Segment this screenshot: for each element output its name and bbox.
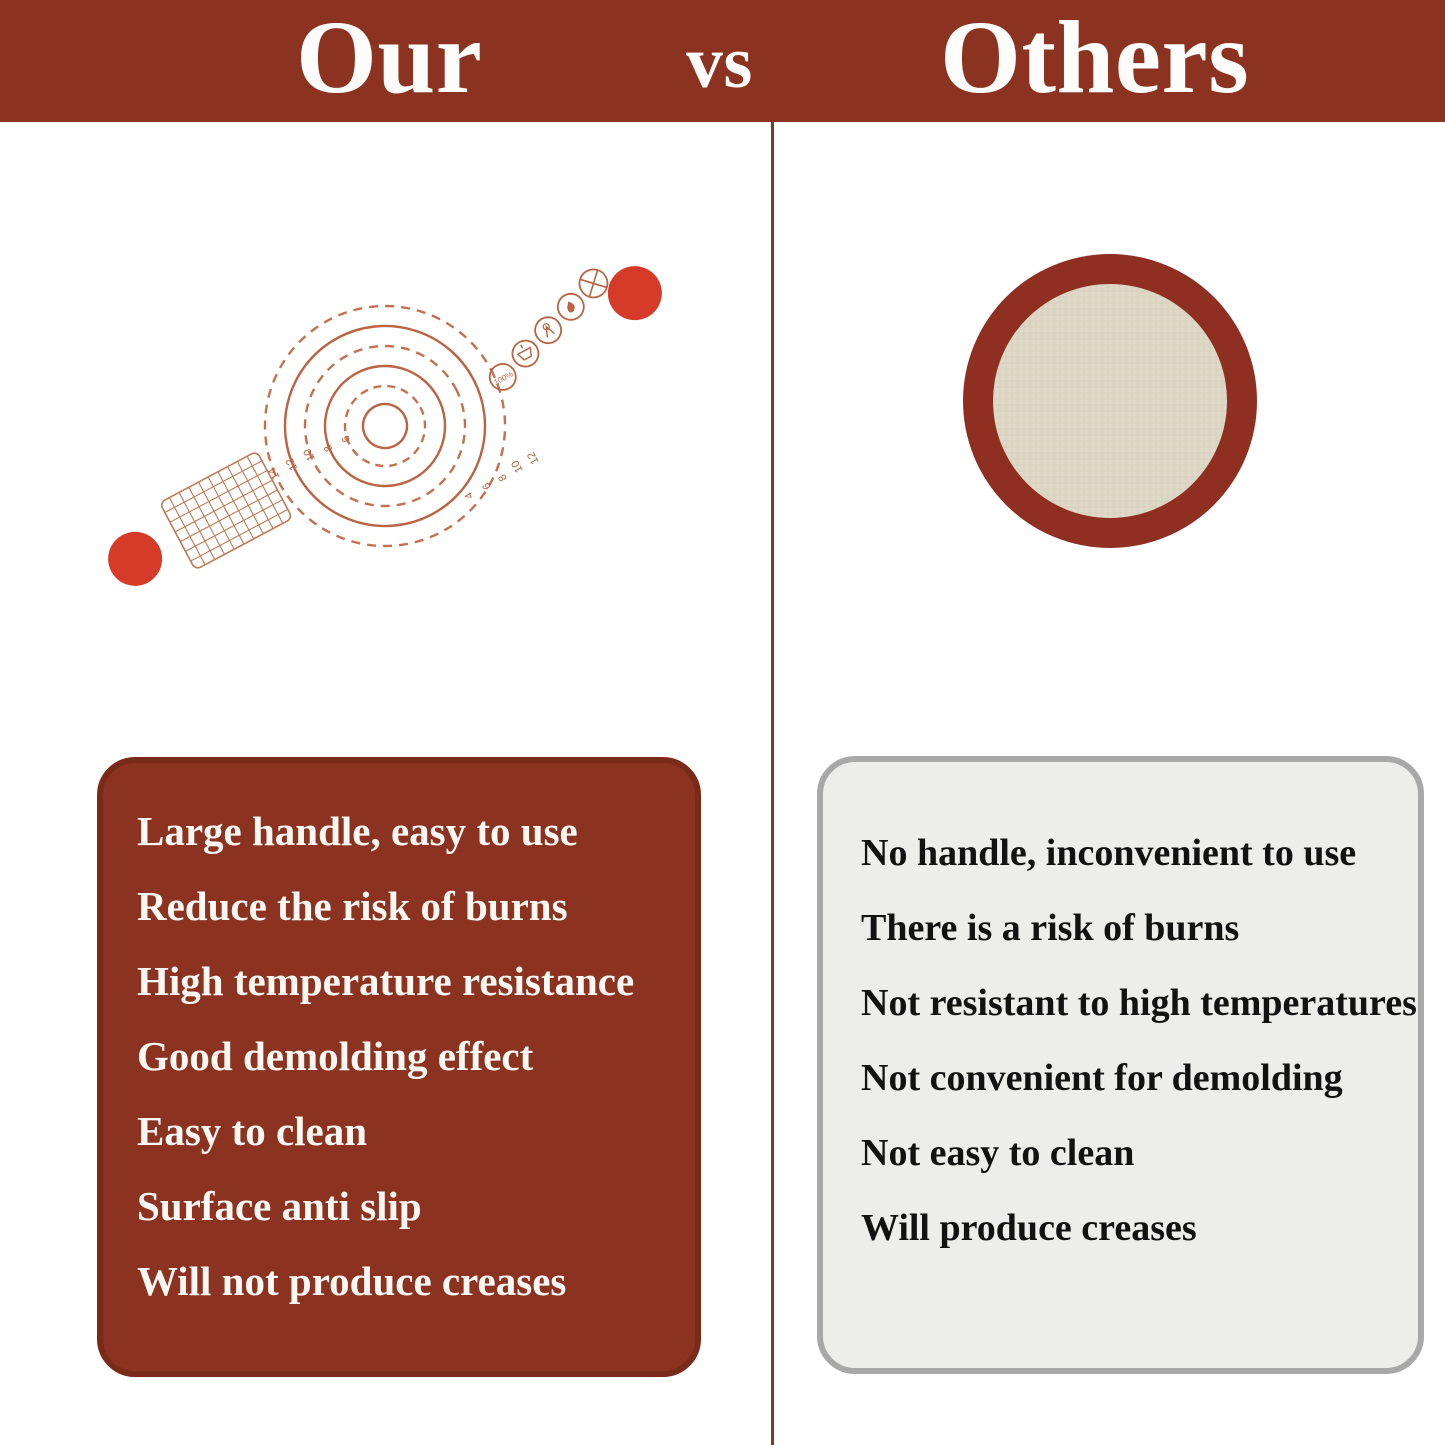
mat-care-icons: 100% — [466, 265, 631, 395]
list-item: Not convenient for demolding — [861, 1059, 1404, 1097]
product-image-ours: 14 12 10 8 6 4 6 8 10 12 — [0, 126, 770, 736]
header-title-ours: Our — [296, 6, 482, 110]
mat-surface — [0, 126, 770, 736]
list-item: Surface anti slip — [137, 1186, 681, 1227]
center-divider — [771, 122, 774, 1445]
list-item: High temperature resistance — [137, 961, 681, 1002]
header-band: Our vs Others — [0, 0, 1445, 122]
product-image-others — [775, 126, 1445, 736]
round-mat-surface — [993, 284, 1227, 518]
dishwasher-safe-icon — [508, 336, 543, 371]
feature-list-ours: Large handle, easy to use Reduce the ris… — [137, 811, 681, 1336]
mat-hole-right — [598, 257, 671, 330]
svg-text:8: 8 — [496, 472, 509, 483]
svg-text:6: 6 — [340, 433, 353, 444]
mat-markings: 14 12 10 8 6 4 6 8 10 12 — [55, 175, 715, 678]
svg-text:6: 6 — [480, 480, 493, 491]
mat-hole-left — [99, 522, 172, 595]
feature-list-others: No handle, inconvenient to use There is … — [861, 834, 1404, 1284]
list-item: Good demolding effect — [137, 1036, 681, 1077]
svg-text:10: 10 — [509, 458, 525, 474]
list-item: Will produce creases — [861, 1209, 1404, 1247]
list-item: There is a risk of burns — [861, 909, 1404, 947]
mat-outer-border — [0, 126, 770, 736]
oven-safe-icon — [531, 313, 566, 348]
list-item: Not easy to clean — [861, 1134, 1404, 1172]
svg-text:12: 12 — [525, 450, 541, 466]
list-item: Reduce the risk of burns — [137, 886, 681, 927]
list-item: Will not produce creases — [137, 1261, 681, 1302]
svg-text:4: 4 — [463, 490, 476, 501]
list-item: Large handle, easy to use — [137, 811, 681, 852]
header-vs-label: vs — [686, 26, 753, 100]
svg-text:12: 12 — [284, 456, 300, 472]
features-card-others: No handle, inconvenient to use There is … — [817, 756, 1424, 1374]
svg-text:100%: 100% — [492, 370, 514, 388]
features-card-ours: Large handle, easy to use Reduce the ris… — [97, 757, 701, 1377]
100-percent-icon: 100% — [485, 359, 520, 394]
header-title-others: Others — [940, 6, 1249, 110]
comparison-infographic: Our vs Others — [0, 0, 1445, 1445]
list-item: Not resistant to high temperatures — [861, 984, 1404, 1022]
list-item: Easy to clean — [137, 1111, 681, 1152]
svg-text:10: 10 — [301, 446, 317, 462]
flame-icon — [553, 289, 588, 324]
list-item: No handle, inconvenient to use — [861, 834, 1404, 872]
